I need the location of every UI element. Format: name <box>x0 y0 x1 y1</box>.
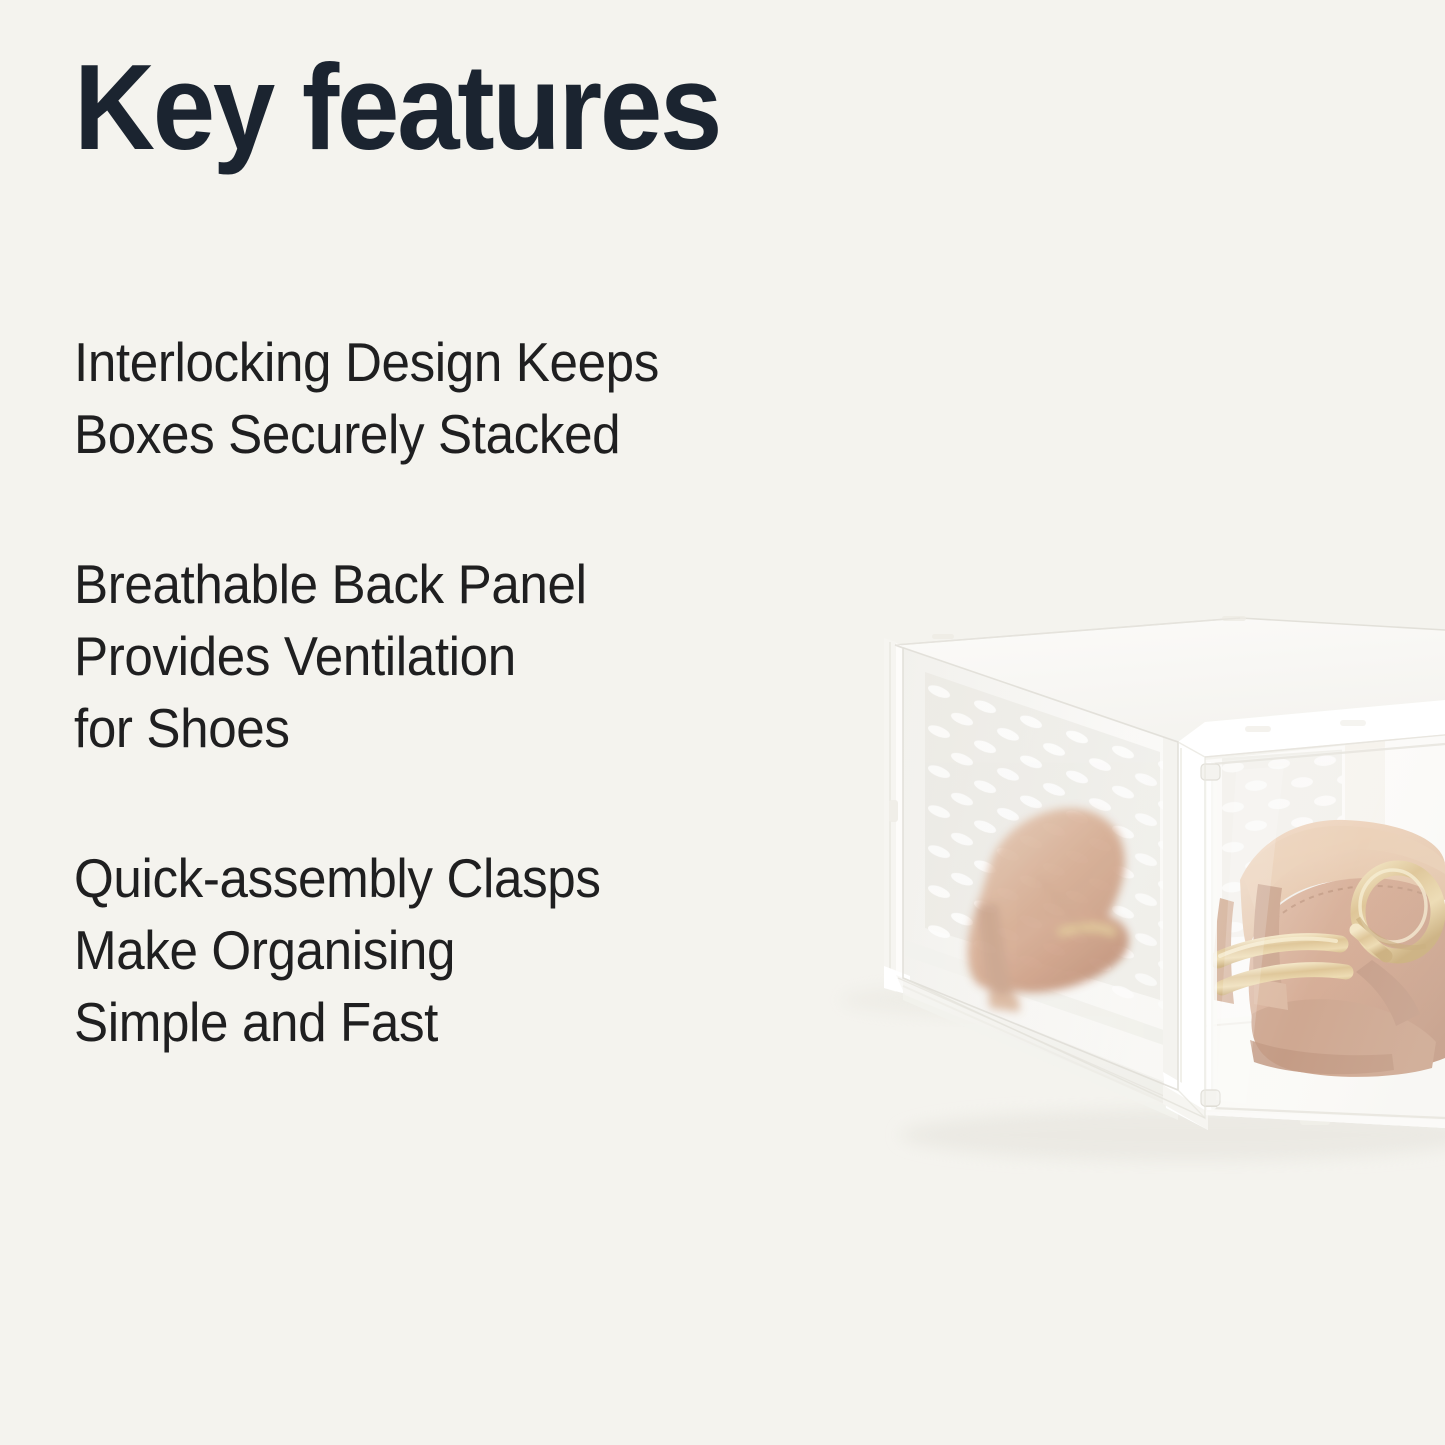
feature-item-interlocking-design: Interlocking Design Keeps Boxes Securely… <box>74 326 834 470</box>
page-canvas: Key features Interlocking Design Keeps B… <box>0 0 1445 1445</box>
feature-line: Simple and Fast <box>74 986 781 1058</box>
feature-line: Boxes Securely Stacked <box>74 398 781 470</box>
feature-item-breathable-back-panel: Breathable Back Panel Provides Ventilati… <box>74 548 834 764</box>
feature-line: Provides Ventilation <box>74 620 781 692</box>
feature-item-quick-assembly-clasps: Quick-assembly Clasps Make Organising Si… <box>74 842 834 1058</box>
feature-line: Quick-assembly Clasps <box>74 842 781 914</box>
features-text-column: Key features Interlocking Design Keeps B… <box>74 0 854 1445</box>
feature-line: Breathable Back Panel <box>74 548 781 620</box>
feature-line: Make Organising <box>74 914 781 986</box>
feature-line: for Shoes <box>74 692 781 764</box>
page-title: Key features <box>74 46 720 168</box>
feature-line: Interlocking Design Keeps <box>74 326 781 398</box>
features-list: Interlocking Design Keeps Boxes Securely… <box>74 326 834 1058</box>
